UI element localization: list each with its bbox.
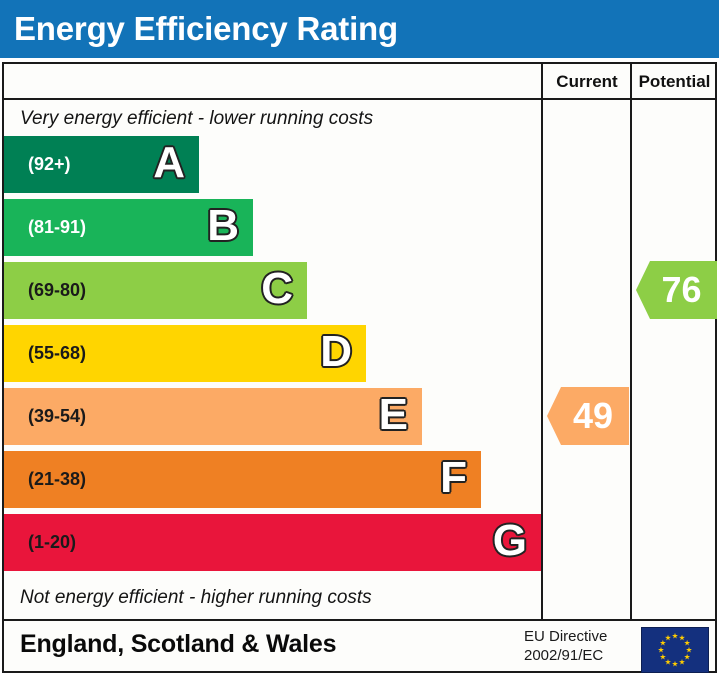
band-bar-e: (39-54)E xyxy=(4,388,422,445)
eu-star xyxy=(679,635,685,641)
band-range-d: (55-68) xyxy=(28,325,86,382)
footer-region-label: England, Scotland & Wales xyxy=(20,630,336,659)
band-letter-e: E xyxy=(379,388,408,445)
band-range-a: (92+) xyxy=(28,136,71,193)
footer-directive-line2: 2002/91/EC xyxy=(524,646,634,665)
eu-star xyxy=(672,633,678,639)
eu-star xyxy=(679,659,685,665)
rating-value-current: 49 xyxy=(563,397,613,435)
page-title: Energy Efficiency Rating xyxy=(14,7,398,51)
table-header-row: Current Potential xyxy=(4,64,715,100)
rating-value-potential: 76 xyxy=(651,271,701,309)
rating-arrow-current: 49 xyxy=(547,387,629,445)
band-bar-c: (69-80)C xyxy=(4,262,307,319)
energy-efficiency-rating-certificate: Energy Efficiency Rating Current Potenti… xyxy=(0,0,719,675)
caption-not-efficient: Not energy efficient - higher running co… xyxy=(20,587,372,609)
caption-very-efficient: Very energy efficient - lower running co… xyxy=(20,108,373,130)
column-divider-left xyxy=(541,64,543,621)
band-letter-a: A xyxy=(153,136,185,193)
footer-directive: EU Directive 2002/91/EC xyxy=(524,627,634,665)
column-header-potential: Potential xyxy=(632,64,717,100)
band-letter-d: D xyxy=(320,325,352,382)
eu-star xyxy=(660,654,666,660)
band-range-b: (81-91) xyxy=(28,199,86,256)
eu-flag-icon xyxy=(641,627,709,673)
eu-star xyxy=(665,659,671,665)
title-bar: Energy Efficiency Rating xyxy=(0,0,719,58)
band-range-g: (1-20) xyxy=(28,514,76,571)
eu-star xyxy=(660,640,666,646)
band-bar-b: (81-91)B xyxy=(4,199,253,256)
rating-arrow-potential: 76 xyxy=(636,261,717,319)
band-bar-f: (21-38)F xyxy=(4,451,481,508)
eu-star xyxy=(658,647,664,653)
column-divider-right xyxy=(630,64,632,621)
rating-table: Current Potential Very energy efficient … xyxy=(2,62,717,673)
eu-star xyxy=(686,647,692,653)
band-letter-f: F xyxy=(440,451,467,508)
band-bar-chart: (92+)A(81-91)B(69-80)C(55-68)D(39-54)E(2… xyxy=(4,136,541,586)
band-bar-g: (1-20)G xyxy=(4,514,541,571)
band-range-c: (69-80) xyxy=(28,262,86,319)
band-bar-d: (55-68)D xyxy=(4,325,366,382)
eu-star xyxy=(665,635,671,641)
eu-flag-stars xyxy=(642,628,708,672)
footer-directive-line1: EU Directive xyxy=(524,627,634,646)
band-bar-a: (92+)A xyxy=(4,136,199,193)
band-letter-c: C xyxy=(261,262,293,319)
footer: England, Scotland & Wales EU Directive 2… xyxy=(4,621,715,673)
band-letter-b: B xyxy=(207,199,239,256)
eu-star xyxy=(672,661,678,667)
band-range-f: (21-38) xyxy=(28,451,86,508)
eu-star xyxy=(684,640,690,646)
eu-star xyxy=(684,654,690,660)
band-range-e: (39-54) xyxy=(28,388,86,445)
band-letter-g: G xyxy=(493,514,527,571)
column-header-current: Current xyxy=(543,64,631,100)
